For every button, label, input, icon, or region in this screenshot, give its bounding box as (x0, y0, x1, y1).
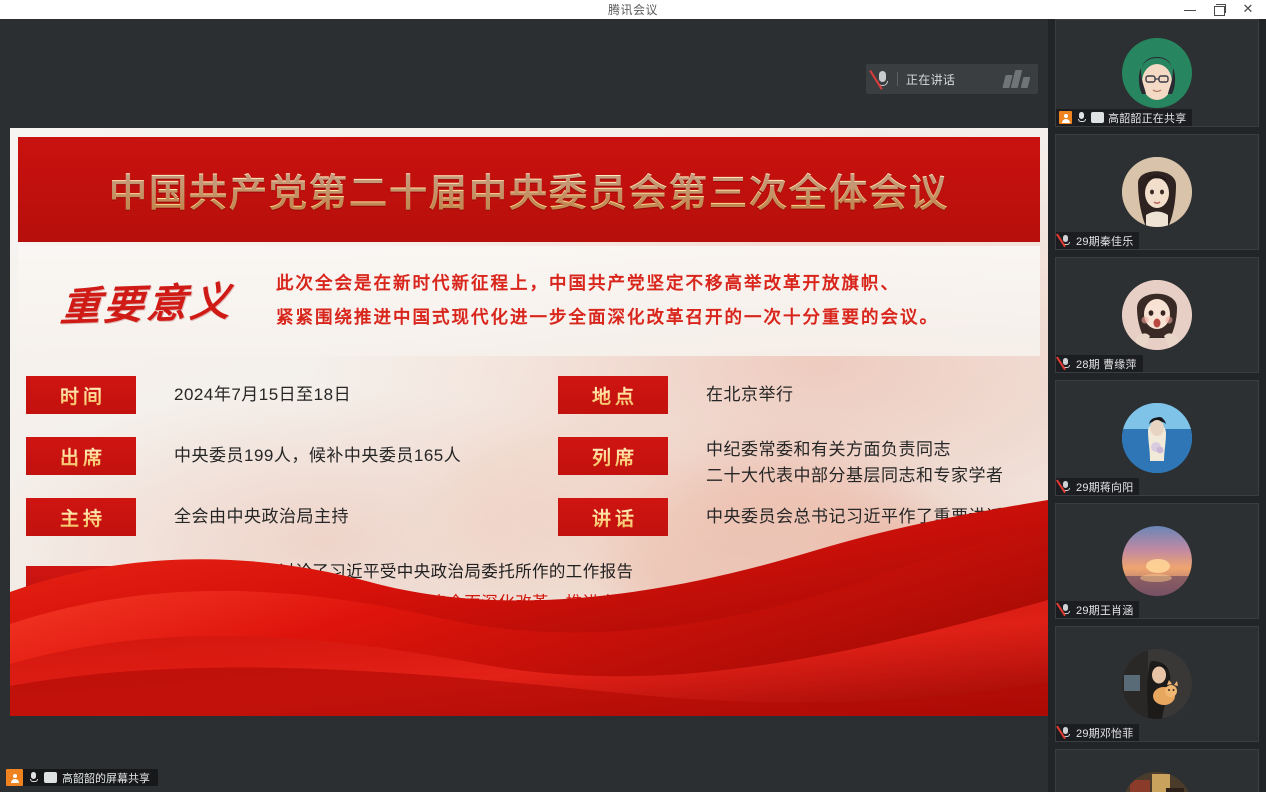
close-icon[interactable]: ✕ (1240, 2, 1256, 18)
participant-nameplate: 29期王肖涵 (1056, 601, 1139, 618)
screen-share-icon (44, 772, 57, 783)
slide-title: 中国共产党第二十届中央委员会第三次全体会议 (109, 162, 949, 217)
info-tag: 出席 (26, 437, 136, 475)
mic-muted-icon (1059, 480, 1072, 493)
participant-rail[interactable]: 高韶韶正在共享 29期秦佳乐 (1048, 19, 1266, 792)
info-row: 时间 2024年7月15日至18日 (26, 376, 351, 414)
info-value: 在北京举行 (706, 376, 794, 407)
participant-name: 28期 曹缘萍 (1076, 356, 1137, 372)
info-tag: 列席 (558, 437, 668, 475)
mic-muted-icon (1059, 357, 1072, 370)
info-value: 2024年7月15日至18日 (174, 376, 351, 407)
red-ribbon-decoration (10, 496, 1048, 716)
significance-body: 此次全会是在新时代新征程上，中国共产党坚定不移高举改革开放旗帜、 紧紧围绕推进中… (276, 267, 1040, 335)
avatar-illustration (1122, 526, 1192, 596)
participant-name: 高韶韶正在共享 (1108, 110, 1186, 126)
participant-tile[interactable]: 29期邓怡菲 (1055, 626, 1259, 742)
participant-name: 29期王肖涵 (1076, 602, 1133, 618)
avatar-illustration (1122, 772, 1192, 792)
significance-line-1: 此次全会是在新时代新征程上，中国共产党坚定不移高举改革开放旗帜、 (276, 267, 1022, 301)
speaking-label: 正在讲话 (906, 71, 955, 88)
info-value: 中央委员199人，候补中央委员165人 (174, 437, 461, 468)
mic-on-icon (1076, 111, 1087, 124)
participant-nameplate: 28期 曹缘萍 (1056, 355, 1143, 372)
avatar (1122, 38, 1192, 108)
info-tag: 地点 (558, 376, 668, 414)
info-value: 中纪委常委和有关方面负责同志 二十大代表中部分基层同志和专家学者 (706, 437, 1004, 489)
participant-name: 29期蒋向阳 (1076, 479, 1133, 495)
avatar-illustration (1122, 403, 1192, 473)
participant-nameplate: 29期邓怡菲 (1056, 724, 1139, 741)
avatar-illustration (1122, 280, 1192, 350)
participant-name: 29期秦佳乐 (1076, 233, 1133, 249)
avatar (1122, 649, 1192, 719)
participant-nameplate: 29期秦佳乐 (1056, 232, 1139, 249)
mic-on-icon (28, 771, 39, 784)
mic-muted-icon (1059, 603, 1072, 616)
audio-wave-icon (1004, 70, 1029, 88)
minimize-icon[interactable] (1182, 2, 1198, 18)
avatar (1122, 772, 1192, 792)
participant-tile[interactable]: 28期 曹缘萍 (1055, 257, 1259, 373)
participant-nameplate: 高韶韶正在共享 (1056, 109, 1192, 126)
host-icon (1059, 111, 1072, 124)
participant-tile[interactable]: 29期王肖涵 (1055, 503, 1259, 619)
mic-muted-icon (1059, 726, 1072, 739)
mic-muted-icon (1059, 234, 1072, 247)
participant-tile[interactable] (1055, 749, 1259, 792)
info-row: 出席 中央委员199人，候补中央委员165人 (26, 437, 461, 475)
avatar (1122, 526, 1192, 596)
window-controls: ✕ (1182, 0, 1262, 19)
significance-heading: 重要意义 (16, 268, 279, 335)
info-row: 地点 在北京举行 (558, 376, 794, 414)
host-icon (6, 769, 23, 786)
badge-divider (897, 72, 898, 86)
title-bar: 腾讯会议 ✕ (0, 0, 1266, 19)
participant-tile[interactable]: 高韶韶正在共享 (1055, 19, 1259, 127)
window-title: 腾讯会议 (608, 1, 658, 18)
maximize-icon[interactable] (1211, 2, 1227, 18)
mic-muted-icon (873, 69, 895, 89)
info-tag: 时间 (26, 376, 136, 414)
participant-tile[interactable]: 29期蒋向阳 (1055, 380, 1259, 496)
info-row: 列席 中纪委常委和有关方面负责同志 二十大代表中部分基层同志和专家学者 (558, 437, 1004, 489)
avatar (1122, 280, 1192, 350)
shared-screen-stage: 正在讲话 中国共产党第二十届中央委员会第三次全体会议 重要意义 此次全会是在新时… (0, 19, 1048, 792)
significance-section: 重要意义 此次全会是在新时代新征程上，中国共产党坚定不移高举改革开放旗帜、 紧紧… (18, 246, 1040, 356)
avatar-illustration (1122, 38, 1192, 108)
participant-name: 29期邓怡菲 (1076, 725, 1133, 741)
avatar (1122, 157, 1192, 227)
significance-line-2: 紧紧围绕推进中国式现代化进一步全面深化改革召开的一次十分重要的会议。 (276, 301, 1022, 335)
speaking-status-badge: 正在讲话 (866, 64, 1038, 94)
screen-share-badge: 高韶韶的屏幕共享 (6, 769, 158, 786)
presentation-slide: 中国共产党第二十届中央委员会第三次全体会议 重要意义 此次全会是在新时代新征程上… (10, 128, 1048, 716)
avatar-illustration (1122, 157, 1192, 227)
tencent-meeting-window: 腾讯会议 ✕ 正在讲话 (0, 0, 1266, 792)
screen-share-icon (1091, 112, 1104, 123)
avatar (1122, 403, 1192, 473)
stage-top-strip: 正在讲话 (0, 19, 1048, 109)
participant-tile[interactable]: 29期秦佳乐 (1055, 134, 1259, 250)
participant-nameplate: 29期蒋向阳 (1056, 478, 1139, 495)
slide-banner: 中国共产党第二十届中央委员会第三次全体会议 (18, 137, 1040, 242)
avatar-illustration (1122, 649, 1192, 719)
share-badge-label: 高韶韶的屏幕共享 (62, 770, 150, 786)
